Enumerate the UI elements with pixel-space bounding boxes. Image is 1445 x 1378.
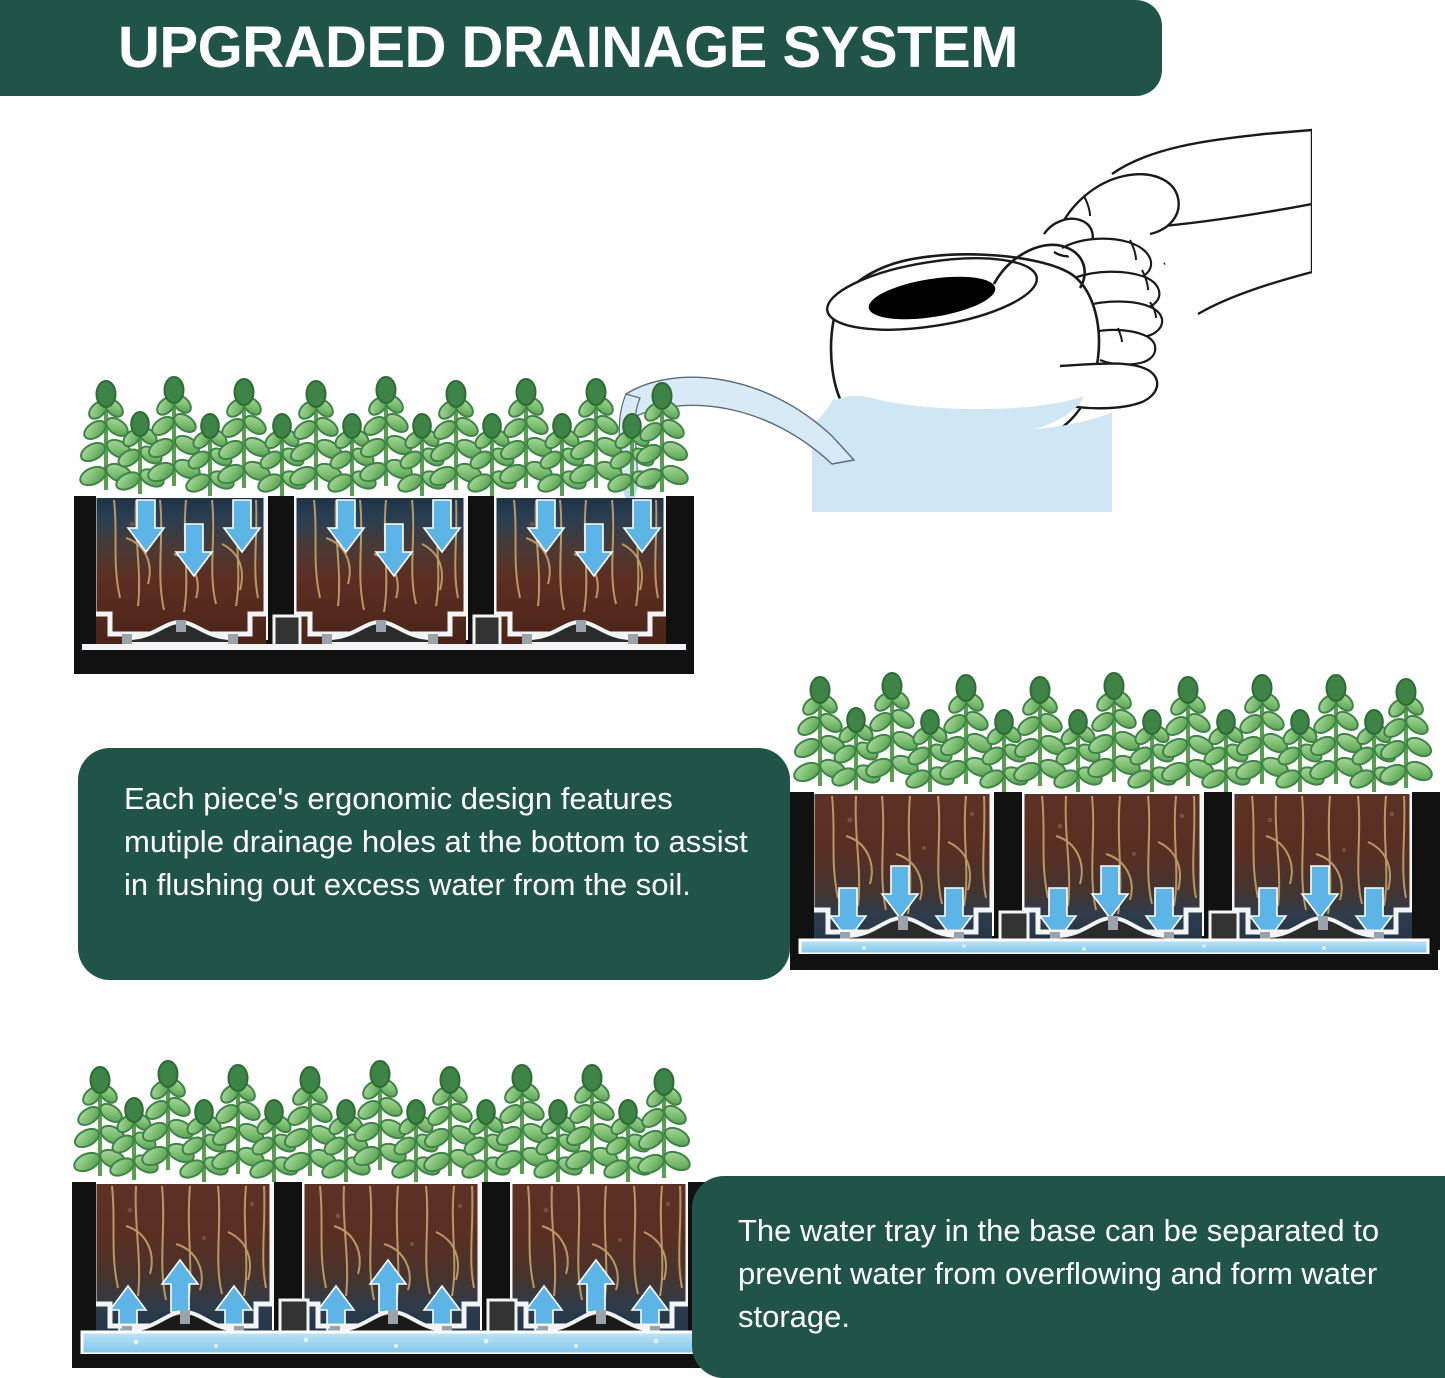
tray-water: [800, 940, 1428, 954]
foliage-group: [77, 377, 690, 496]
tray-water-storage: [82, 1332, 708, 1354]
caption-water-tray: The water tray in the base can be separa…: [692, 1176, 1445, 1378]
title-banner: UPGRADED DRAINAGE SYSTEM: [0, 0, 1162, 96]
foliage-group: [71, 1061, 692, 1182]
caption-drainage-holes-text: Each piece's ergonomic design features m…: [124, 778, 748, 906]
page-title: UPGRADED DRAINAGE SYSTEM: [118, 19, 1018, 77]
caption-drainage-holes: Each piece's ergonomic design features m…: [78, 748, 790, 980]
caption-water-tray-text: The water tray in the base can be separa…: [738, 1210, 1409, 1338]
planter-cross-section-draining: [784, 636, 1444, 984]
infographic-stage: UPGRADED DRAINAGE SYSTEM: [0, 0, 1445, 1378]
foliage-group: [791, 673, 1434, 792]
planter-cross-section-watering: [68, 348, 700, 688]
planter-cross-section-storage: [66, 1028, 726, 1378]
